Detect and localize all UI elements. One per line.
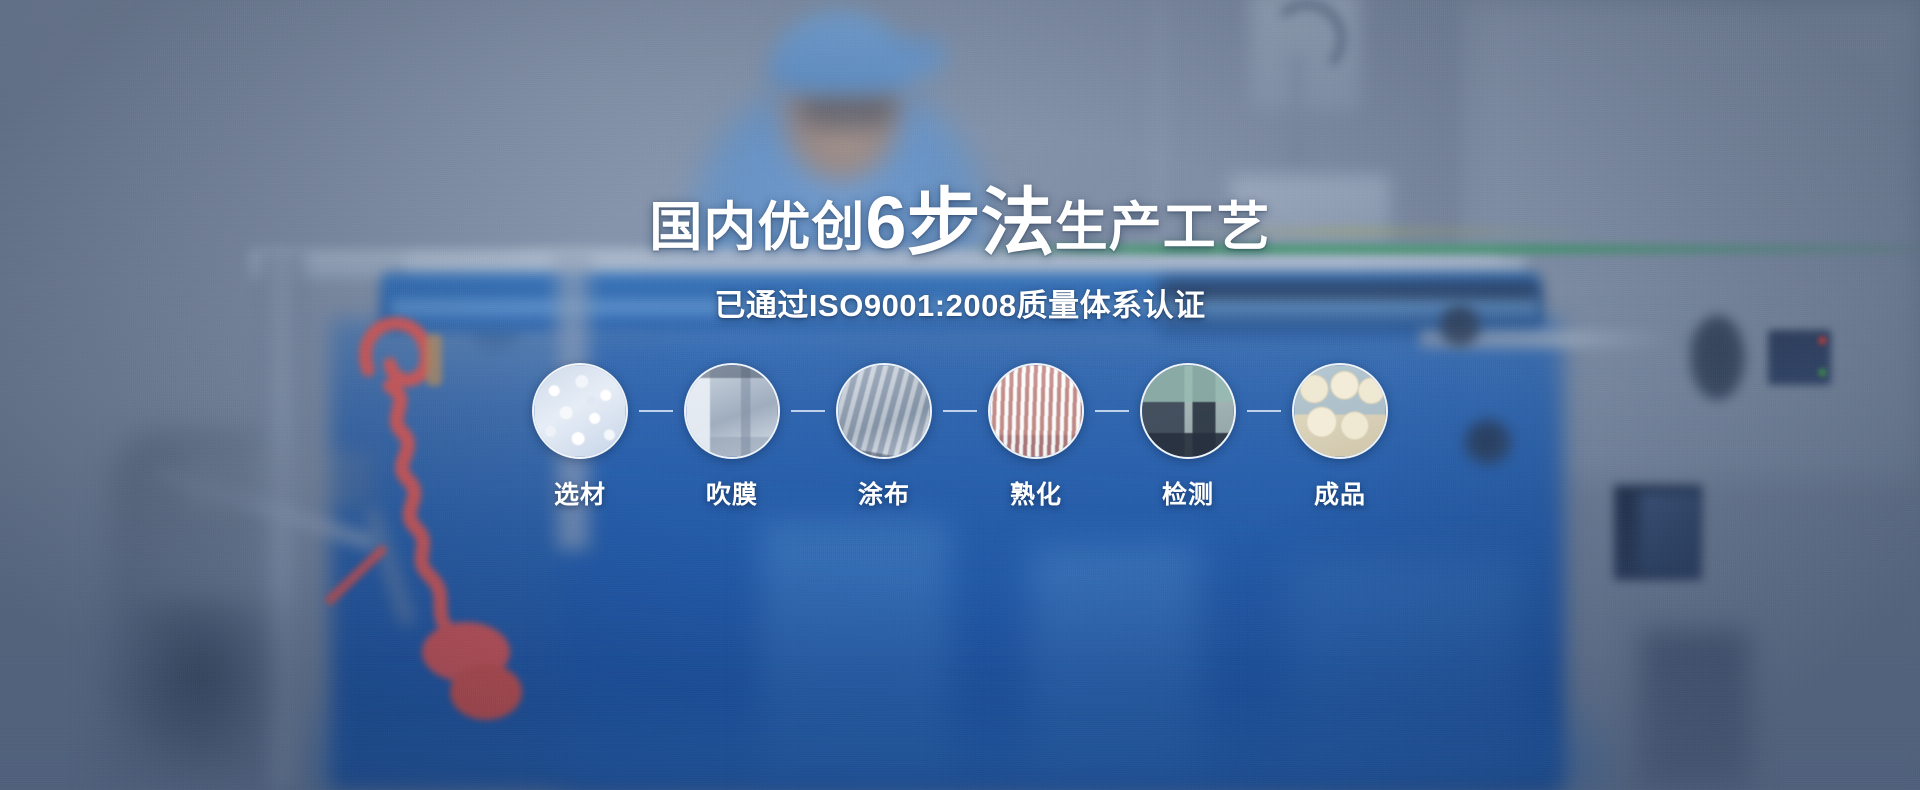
process-step-4[interactable]: 熟化: [988, 363, 1084, 511]
banner-content: 国内优创6步法生产工艺 已通过ISO9001:2008质量体系认证 选材 吹膜: [0, 0, 1920, 790]
process-step-5[interactable]: 检测: [1140, 363, 1236, 511]
process-step-2[interactable]: 吹膜: [684, 363, 780, 511]
step-label: 熟化: [1010, 475, 1062, 511]
step-label: 检测: [1162, 475, 1214, 511]
page-title: 国内优创6步法生产工艺: [649, 186, 1270, 260]
headline-suffix: 生产工艺: [1055, 198, 1271, 257]
step-label: 吹膜: [706, 475, 758, 511]
step-connector-5: [1236, 363, 1292, 459]
process-step-1[interactable]: 选材: [532, 363, 628, 511]
finished-film-rolls-photo: [1294, 365, 1386, 457]
step-label: 选材: [554, 475, 606, 511]
page-subtitle: 已通过ISO9001:2008质量体系认证: [714, 280, 1205, 325]
step-connector-4: [1084, 363, 1140, 459]
headline-emphasis: 6步法: [865, 181, 1054, 264]
film-blowing-machine-photo: [686, 365, 778, 457]
curing-room-photo: [990, 365, 1082, 457]
step-thumbnail-blowing[interactable]: [684, 363, 780, 459]
testing-equipment-photo: [1142, 365, 1234, 457]
process-step-3[interactable]: 涂布: [836, 363, 932, 511]
process-step-6[interactable]: 成品: [1292, 363, 1388, 511]
step-thumbnail-coating[interactable]: [836, 363, 932, 459]
step-label: 成品: [1314, 475, 1366, 511]
headline-prefix: 国内优创: [649, 198, 865, 257]
step-thumbnail-selection[interactable]: [532, 363, 628, 459]
plastic-pellets-photo: [534, 365, 626, 457]
step-connector-3: [932, 363, 988, 459]
step-label: 涂布: [858, 475, 910, 511]
step-connector-1: [628, 363, 684, 459]
process-steps: 选材 吹膜 涂布 熟化: [532, 363, 1388, 511]
hero-banner: 国内优创6步法生产工艺 已通过ISO9001:2008质量体系认证 选材 吹膜: [0, 0, 1920, 790]
step-thumbnail-finished[interactable]: [1292, 363, 1388, 459]
step-thumbnail-curing[interactable]: [988, 363, 1084, 459]
step-connector-2: [780, 363, 836, 459]
coating-machine-photo: [838, 365, 930, 457]
step-thumbnail-testing[interactable]: [1140, 363, 1236, 459]
